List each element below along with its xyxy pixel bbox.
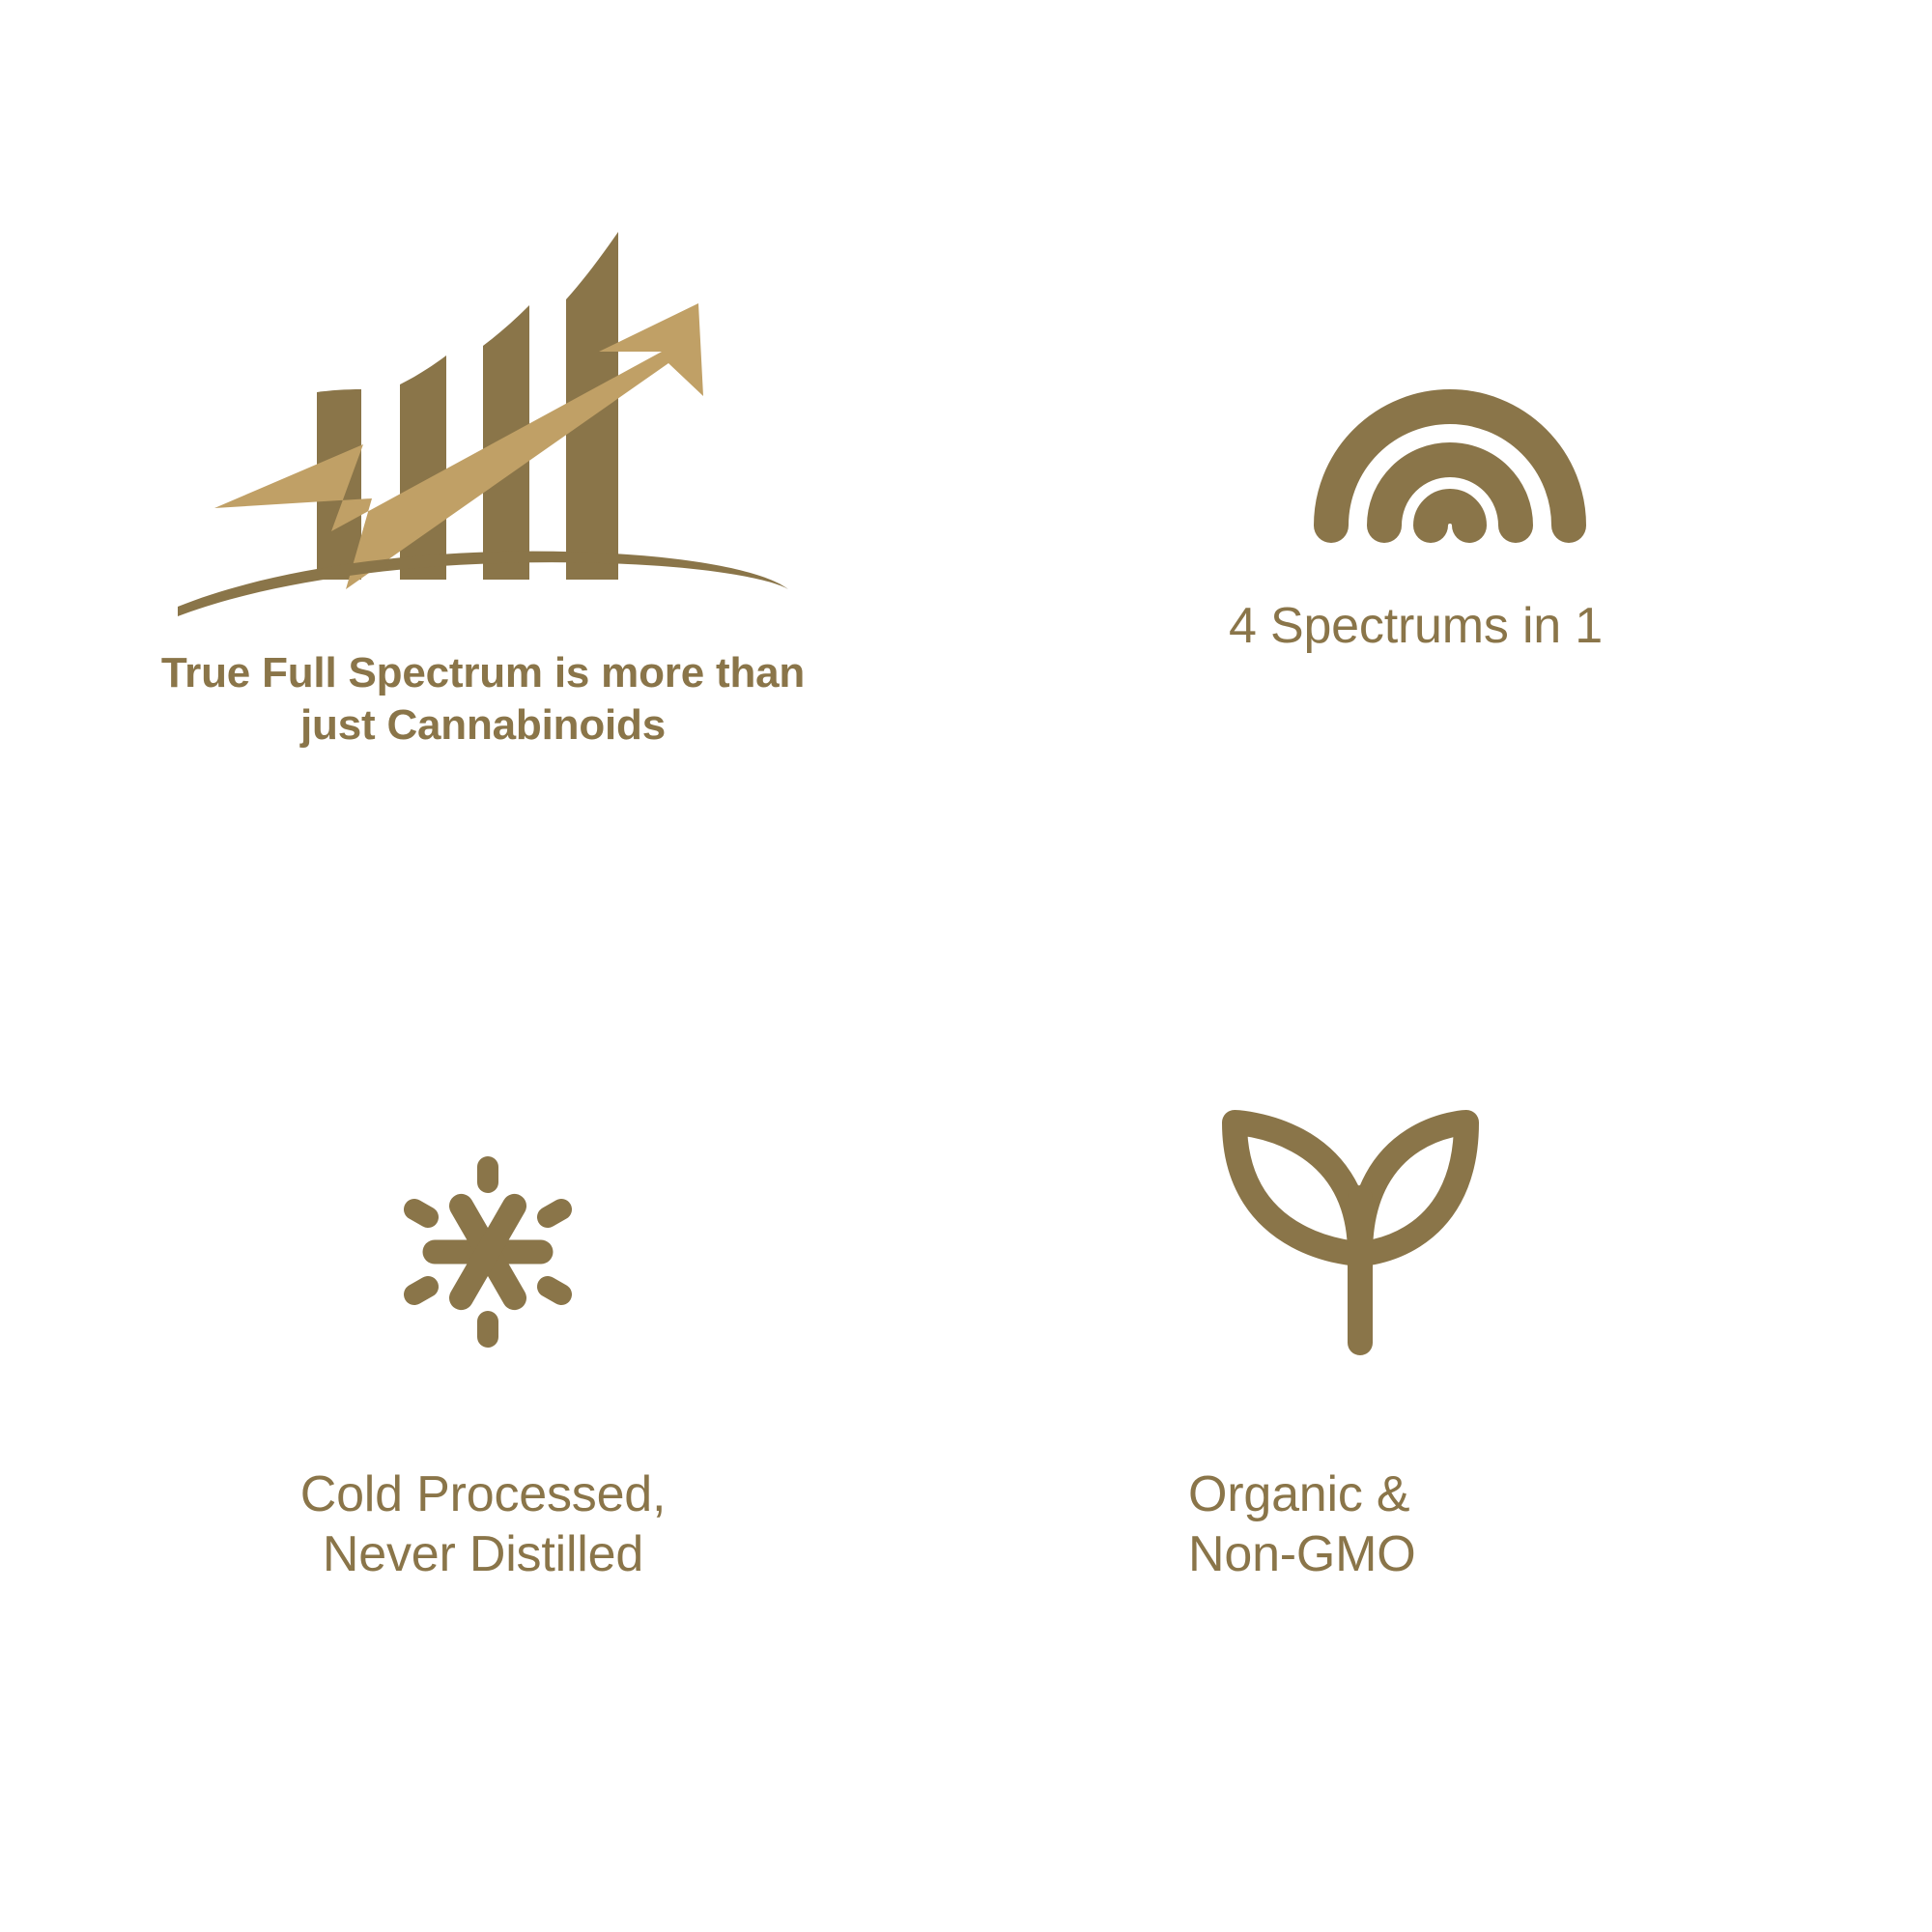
caption-line-1: Organic & bbox=[1188, 1464, 1416, 1524]
snowflake-cold-icon bbox=[391, 1155, 584, 1349]
caption-line-2: just Cannabinoids bbox=[68, 699, 898, 752]
caption-line-2: Never Distilled bbox=[87, 1524, 879, 1584]
caption-line-1: 4 Spectrums in 1 bbox=[1229, 596, 1603, 656]
badge-caption: Cold Processed, Never Distilled bbox=[87, 1464, 879, 1585]
feature-badge-grid: True Full Spectrum is more than just Can… bbox=[0, 0, 1932, 1932]
caption-line-2: Non-GMO bbox=[1188, 1524, 1416, 1584]
badge-true-full-spectrum: True Full Spectrum is more than just Can… bbox=[0, 0, 966, 966]
badge-caption: True Full Spectrum is more than just Can… bbox=[68, 647, 898, 751]
badge-caption: Organic & Non-GMO bbox=[1188, 1464, 1416, 1585]
badge-cold-processed: Cold Processed, Never Distilled bbox=[0, 966, 966, 1932]
caption-line-1: Cold Processed, bbox=[87, 1464, 879, 1524]
badge-four-spectrums-in-one: 4 Spectrums in 1 bbox=[966, 0, 1932, 966]
growth-chart-arrow-icon bbox=[174, 220, 792, 626]
sprout-leaf-icon bbox=[1215, 1101, 1486, 1372]
rainbow-arcs-icon bbox=[1310, 373, 1590, 542]
badge-organic-non-gmo: Organic & Non-GMO bbox=[966, 966, 1932, 1932]
badge-caption: 4 Spectrums in 1 bbox=[1229, 596, 1603, 656]
caption-line-1: True Full Spectrum is more than bbox=[68, 647, 898, 699]
